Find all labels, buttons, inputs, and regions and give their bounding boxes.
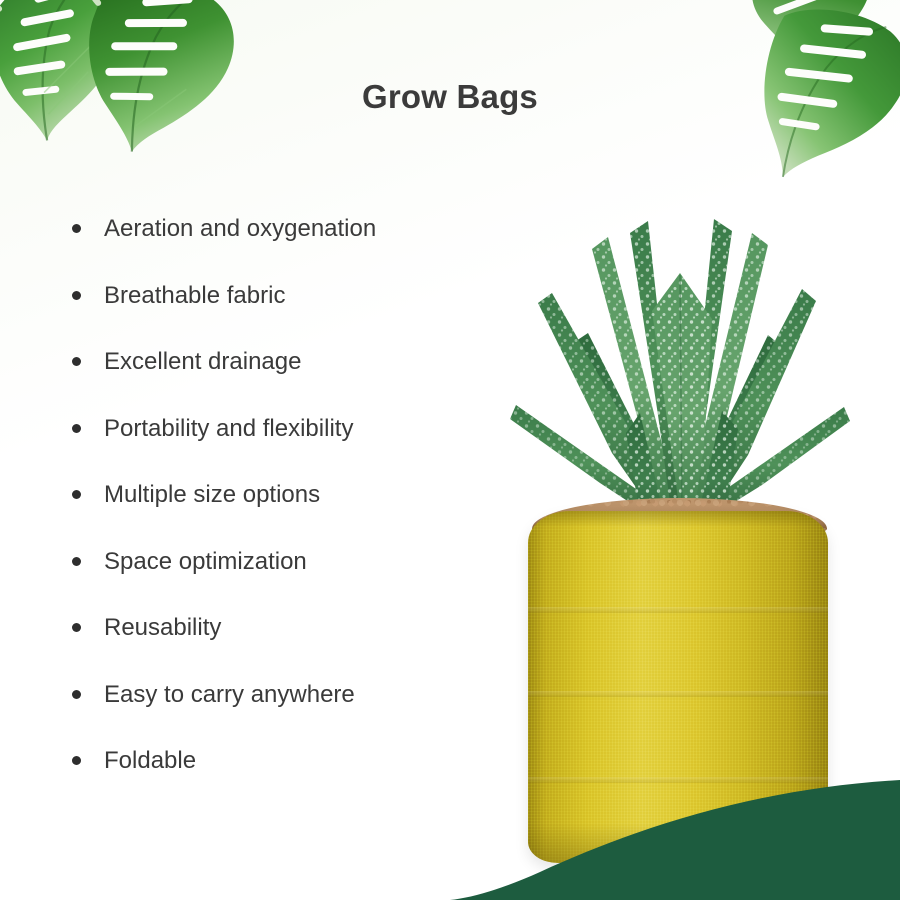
aloe-plant [480, 215, 880, 545]
list-item: Aeration and oxygenation [62, 196, 502, 263]
bag-rim [528, 511, 828, 527]
bottom-green-sweep [0, 780, 900, 900]
bag-crease [528, 607, 828, 613]
list-item: Breathable fabric [62, 263, 502, 330]
feature-label: Breathable fabric [104, 282, 285, 310]
feature-label: Foldable [104, 747, 196, 775]
bullet-dot-icon [72, 490, 81, 499]
feature-label: Portability and flexibility [104, 415, 353, 443]
bullet-dot-icon [72, 357, 81, 366]
bullet-dot-icon [72, 557, 81, 566]
grow-bags-infographic: Grow Bags Aeration and oxygenation Breat… [0, 0, 900, 900]
bullet-dot-icon [72, 424, 81, 433]
feature-label: Reusability [104, 614, 221, 642]
list-item: Reusability [62, 595, 502, 662]
bullet-dot-icon [72, 224, 81, 233]
list-item: Portability and flexibility [62, 396, 502, 463]
bullet-dot-icon [72, 623, 81, 632]
list-item: Excellent drainage [62, 329, 502, 396]
list-item: Multiple size options [62, 462, 502, 529]
bullet-dot-icon [72, 690, 81, 699]
bag-crease [528, 691, 828, 697]
feature-list: Aeration and oxygenation Breathable fabr… [62, 196, 502, 795]
list-item: Easy to carry anywhere [62, 662, 502, 729]
page-title: Grow Bags [0, 78, 900, 116]
list-item: Space optimization [62, 529, 502, 596]
feature-label: Space optimization [104, 548, 307, 576]
bullet-dot-icon [72, 756, 81, 765]
feature-label: Easy to carry anywhere [104, 681, 355, 709]
feature-label: Multiple size options [104, 481, 320, 509]
feature-label: Excellent drainage [104, 348, 301, 376]
product-photo [480, 215, 880, 875]
bullet-dot-icon [72, 291, 81, 300]
feature-label: Aeration and oxygenation [104, 215, 376, 243]
